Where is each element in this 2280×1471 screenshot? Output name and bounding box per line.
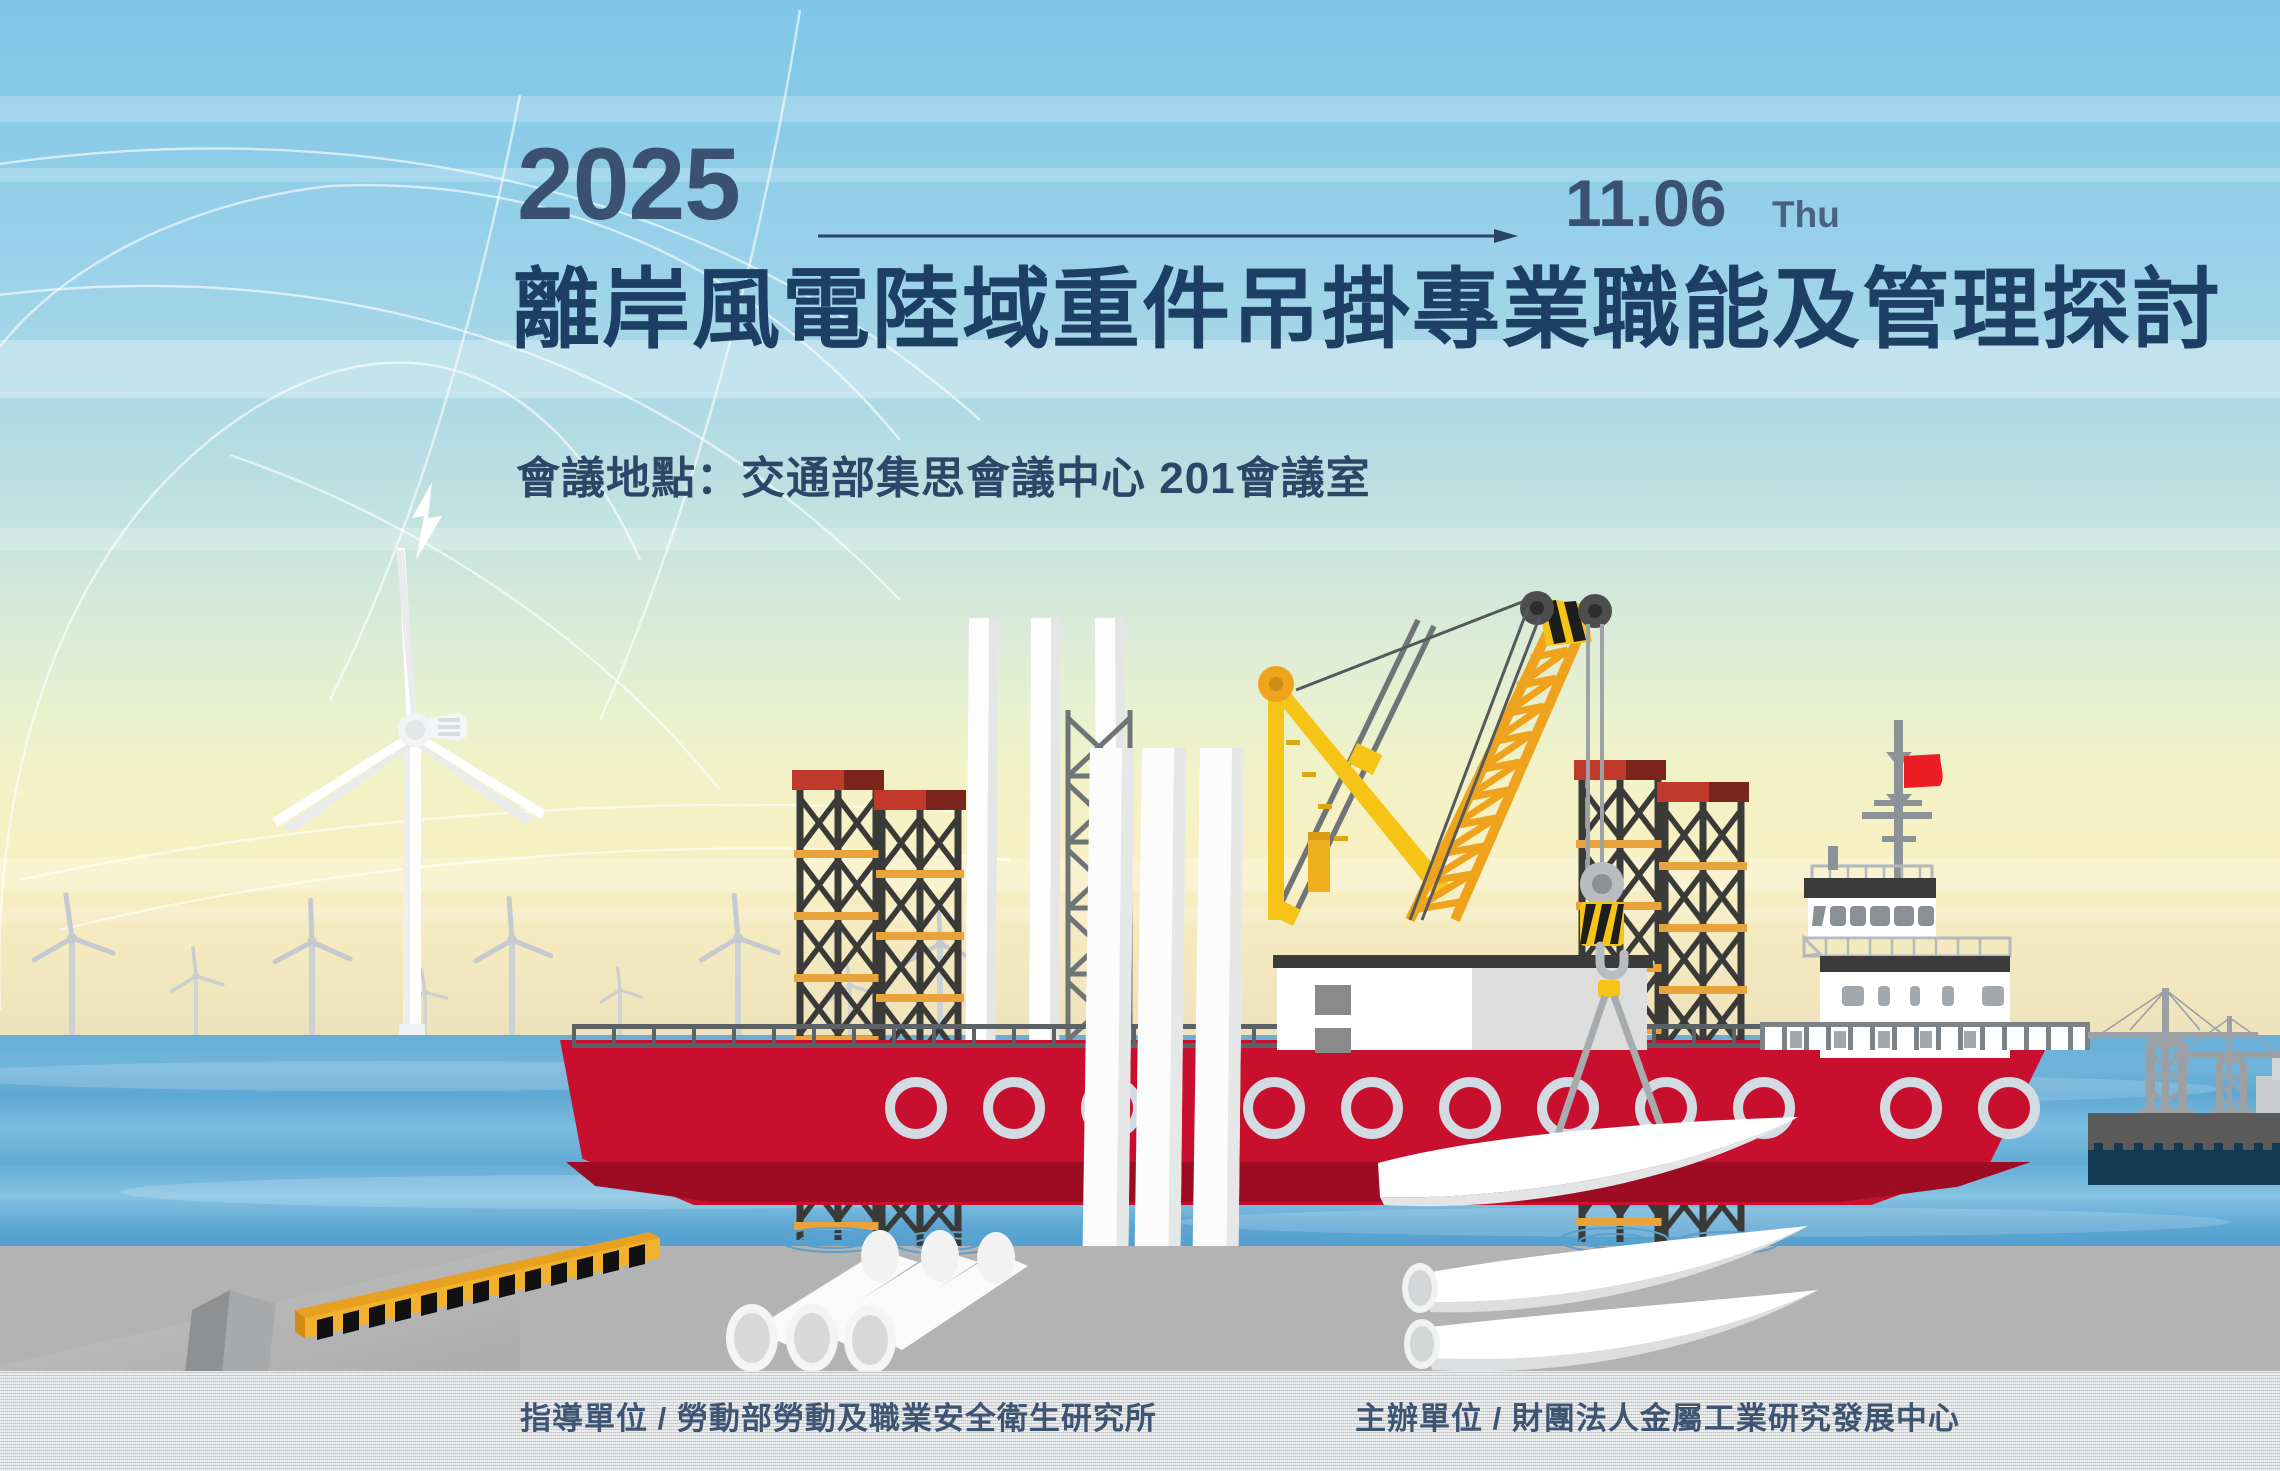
- porthole: [983, 1077, 1045, 1139]
- footer-host-unit: 主辦單位 / 財團法人金屬工業研究發展中心: [1355, 1393, 1960, 1438]
- pier-base: [2088, 1150, 2280, 1185]
- lifted-turbine-blade: [1370, 1115, 1800, 1225]
- event-year: 2025: [517, 133, 740, 235]
- event-date: 11.06: [1565, 170, 1727, 236]
- footer-guide-unit: 指導單位 / 勞動部勞動及職業安全衛生研究所: [520, 1393, 1157, 1438]
- crane-hook-icon: [1562, 862, 1652, 998]
- arrow-right-icon: [818, 228, 1518, 244]
- page-title: 離岸風電陸域重件吊掛專業職能及管理探討: [512, 262, 2222, 357]
- porthole: [1978, 1077, 2040, 1139]
- monopile-pipe-stack: [690, 1222, 1030, 1392]
- event-day-of-week: Thu: [1772, 196, 1840, 233]
- poster-canvas: 指導單位 / 勞動部勞動及職業安全衛生研究所 主辦單位 / 財團法人金屬工業研究…: [0, 0, 2280, 1471]
- monopile-foreground-right: [1180, 748, 1340, 1296]
- porthole: [1880, 1077, 1942, 1139]
- porthole: [885, 1077, 947, 1139]
- bow-railing: [1760, 1022, 2090, 1050]
- main-wind-turbine: [255, 528, 585, 1058]
- venue-text: 會議地點：交通部集思會議中心 201會議室: [516, 442, 1371, 506]
